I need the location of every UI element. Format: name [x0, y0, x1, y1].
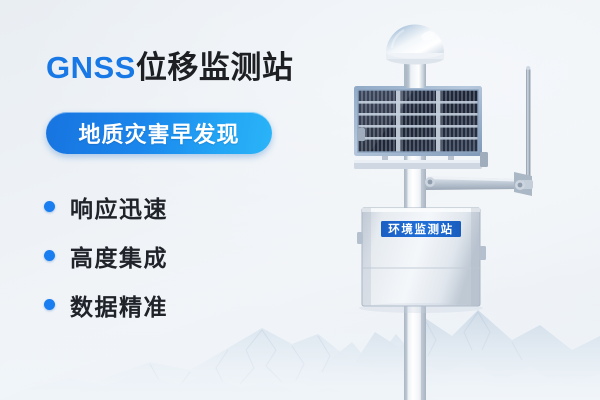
enclosure-label-text: 环境监测站 [388, 222, 454, 236]
enclosure-hinge-right [480, 152, 488, 167]
bullet-dot-icon [44, 299, 55, 310]
whip-antenna-tip [526, 66, 530, 70]
page-title: GNSS位移监测站 [46, 52, 293, 83]
crossarm-bolt-left-center [428, 180, 433, 185]
feature-label: 高度集成 [70, 239, 168, 273]
tagline-badge-label: 地质灾害早发现 [78, 117, 239, 149]
list-item: 响应迅速 [44, 182, 168, 231]
crossarm-bolt-right-center [518, 183, 523, 188]
feature-list: 响应迅速 高度集成 数据精准 [44, 182, 168, 329]
panel-mount-rail-highlight [354, 160, 482, 163]
list-item: 高度集成 [44, 231, 168, 280]
bullet-dot-icon [44, 250, 55, 261]
feature-label: 响应迅速 [70, 190, 168, 224]
enclosure-clip-left [357, 232, 363, 244]
tagline-badge[interactable]: 地质灾害早发现 [46, 112, 272, 154]
headline-rest: 位移监测站 [136, 50, 294, 85]
headline-accent: GNSS [46, 50, 136, 85]
feature-label: 数据精准 [70, 288, 168, 322]
enclosure-hinge-left [358, 128, 365, 141]
bullet-dot-icon [44, 201, 55, 212]
whip-antenna [526, 68, 530, 193]
product-banner: 环境监测站 GNSS位移监测站 地质灾害早发现 响应迅速 高度集成 数据精准 [0, 0, 600, 400]
enclosure-shadow [359, 303, 483, 313]
enclosure-left-shade [362, 208, 371, 306]
enclosure-clip-right [479, 246, 486, 260]
enclosure-top-bevel [362, 208, 480, 212]
enclosure-right-shade [471, 208, 480, 306]
list-item: 数据精准 [44, 280, 168, 329]
monitoring-station-graphic: 环境监测站 [330, 0, 600, 400]
solar-cell-stripes [358, 90, 478, 152]
